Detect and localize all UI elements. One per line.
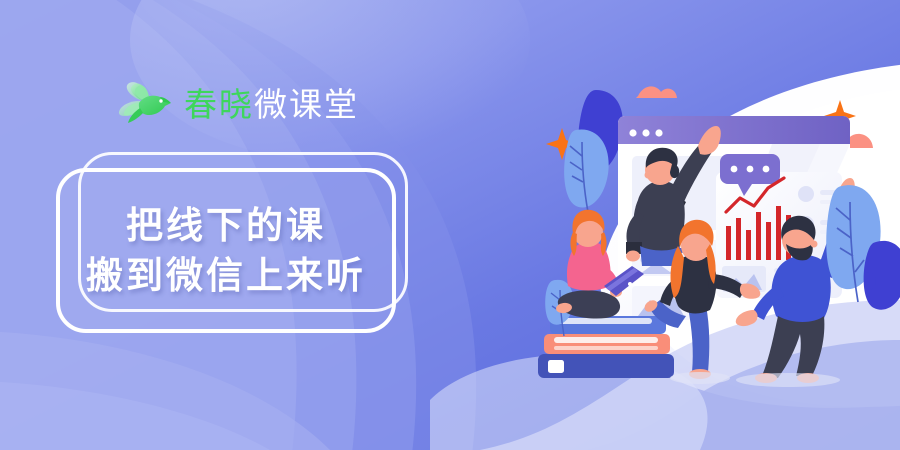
card-dot-1 [798,186,814,202]
logo-suffix-text: 微课堂 [254,78,359,126]
browser-dot-3 [655,129,662,136]
browser-dot-2 [642,129,649,136]
decoration-cloud-coral-top [636,86,677,98]
headline-line-2: 搬到微信上来听 [86,254,366,298]
browser-dot-1 [629,129,636,136]
plant-indigo-right [864,241,900,310]
brand-logo: 春晓微课堂 [118,78,359,126]
books-stack [538,316,674,378]
ground-shadows [670,372,840,387]
hummingbird-icon [118,80,174,124]
logo-wordmark: 春晓微课堂 [184,78,359,126]
headline-line-1: 把线下的课 [126,204,326,248]
promo-banner: 春晓微课堂 把线下的课 搬到微信上来听 [0,0,900,450]
logo-brand-text: 春晓 [184,78,254,126]
headline-block: 把线下的课 搬到微信上来听 [56,168,396,333]
plant-light-blue-left [564,129,609,212]
online-learning-illustration [520,60,900,400]
